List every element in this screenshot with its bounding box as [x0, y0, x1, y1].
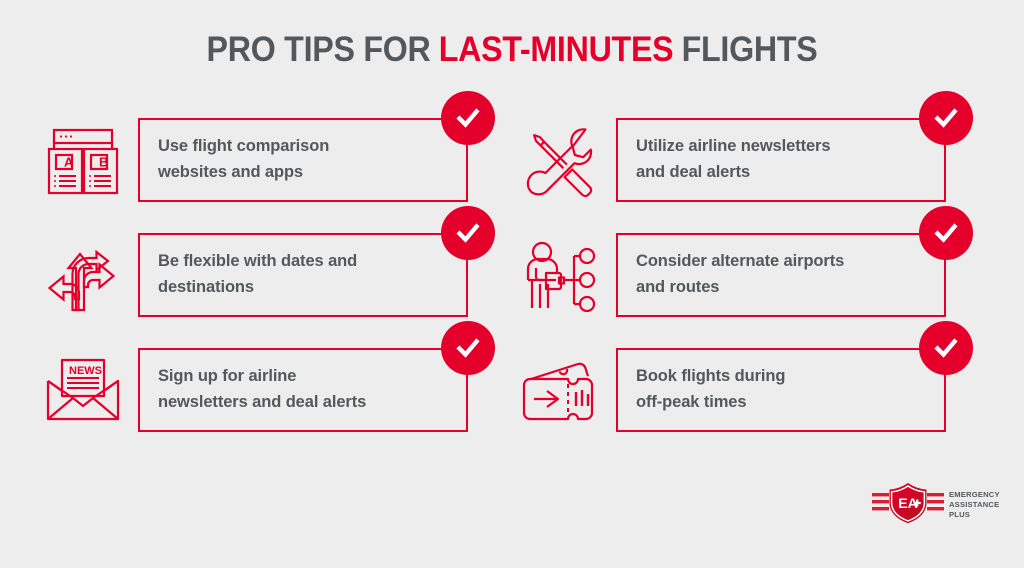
- page-title: PRO TIPS FORLAST-MINUTESFLIGHTS: [41, 30, 983, 70]
- logo-line-1: EMERGENCY: [949, 490, 1000, 500]
- check-badge: [919, 321, 973, 375]
- tip-box: Utilize airline newsletters and deal ale…: [616, 118, 946, 202]
- infographic-canvas: PRO TIPS FORLAST-MINUTESFLIGHTS: [0, 0, 1024, 568]
- person-routes-icon: [518, 232, 604, 318]
- ab-label-b: B: [99, 155, 108, 170]
- tip-line-1: Utilize airline newsletters: [636, 137, 830, 155]
- logo-line-3: PLUS: [949, 510, 1000, 520]
- news-label: NEWS: [69, 365, 102, 377]
- tip-line-1: Be flexible with dates and: [158, 252, 357, 270]
- tip-item: Be flexible with dates and destinations: [40, 225, 518, 325]
- ea-shield-icon: EA: [872, 482, 944, 529]
- tip-text: Book flights during off-peak times: [618, 364, 825, 415]
- tip-box: Be flexible with dates and destinations: [138, 233, 468, 317]
- tip-box: Consider alternate airports and routes: [616, 233, 946, 317]
- tip-text: Sign up for airline newsletters and deal…: [140, 364, 406, 415]
- tip-line-2: newsletters and deal alerts: [158, 390, 366, 416]
- check-icon: [453, 333, 483, 363]
- tip-line-1: Sign up for airline: [158, 367, 296, 385]
- check-badge: [441, 91, 495, 145]
- tip-item: Book flights during off-peak times: [518, 340, 996, 440]
- tip-line-1: Consider alternate airports: [636, 252, 844, 270]
- tip-line-2: destinations: [158, 275, 357, 301]
- logo-wordmark: EMERGENCY ASSISTANCE PLUS: [949, 490, 1000, 520]
- logo-line-2: ASSISTANCE: [949, 500, 1000, 510]
- tip-line-2: websites and apps: [158, 160, 329, 186]
- ab-label-a: A: [64, 155, 74, 170]
- news-envelope-icon: NEWS: [40, 347, 126, 433]
- tip-text: Utilize airline newsletters and deal ale…: [618, 134, 870, 185]
- check-badge: [441, 206, 495, 260]
- tip-item: Utilize airline newsletters and deal ale…: [518, 110, 996, 210]
- tips-grid: A B Use flight comparison websites and a…: [40, 110, 992, 455]
- tip-line-1: Use flight comparison: [158, 137, 329, 155]
- brand-logo: EA EMERGENCY ASSISTANCE PLUS: [872, 481, 1002, 529]
- check-icon: [931, 103, 961, 133]
- tip-text: Use flight comparison websites and apps: [140, 134, 369, 185]
- tip-line-2: and deal alerts: [636, 160, 830, 186]
- tip-item: A B Use flight comparison websites and a…: [40, 110, 518, 210]
- check-icon: [931, 333, 961, 363]
- tip-text: Consider alternate airports and routes: [618, 249, 884, 300]
- title-part-1: PRO TIPS FOR: [207, 30, 431, 69]
- check-badge: [919, 91, 973, 145]
- tip-item: NEWS Sign up for airline newsletters and…: [40, 340, 518, 440]
- check-badge: [441, 321, 495, 375]
- tip-box: Use flight comparison websites and apps: [138, 118, 468, 202]
- tip-box: Book flights during off-peak times: [616, 348, 946, 432]
- tools-wrench-screwdriver-icon: [518, 117, 604, 203]
- tip-line-2: off-peak times: [636, 390, 785, 416]
- check-icon: [453, 218, 483, 248]
- title-accent: LAST-MINUTES: [439, 30, 674, 69]
- tip-text: Be flexible with dates and destinations: [140, 249, 397, 300]
- title-part-2: FLIGHTS: [682, 30, 818, 69]
- tip-item: Consider alternate airports and routes: [518, 225, 996, 325]
- ab-comparison-icon: A B: [40, 117, 126, 203]
- check-icon: [453, 103, 483, 133]
- boarding-pass-icon: [518, 347, 604, 433]
- tip-line-2: and routes: [636, 275, 844, 301]
- tip-box: Sign up for airline newsletters and deal…: [138, 348, 468, 432]
- tip-line-1: Book flights during: [636, 367, 785, 385]
- check-badge: [919, 206, 973, 260]
- check-icon: [931, 218, 961, 248]
- three-way-arrow-icon: [40, 232, 126, 318]
